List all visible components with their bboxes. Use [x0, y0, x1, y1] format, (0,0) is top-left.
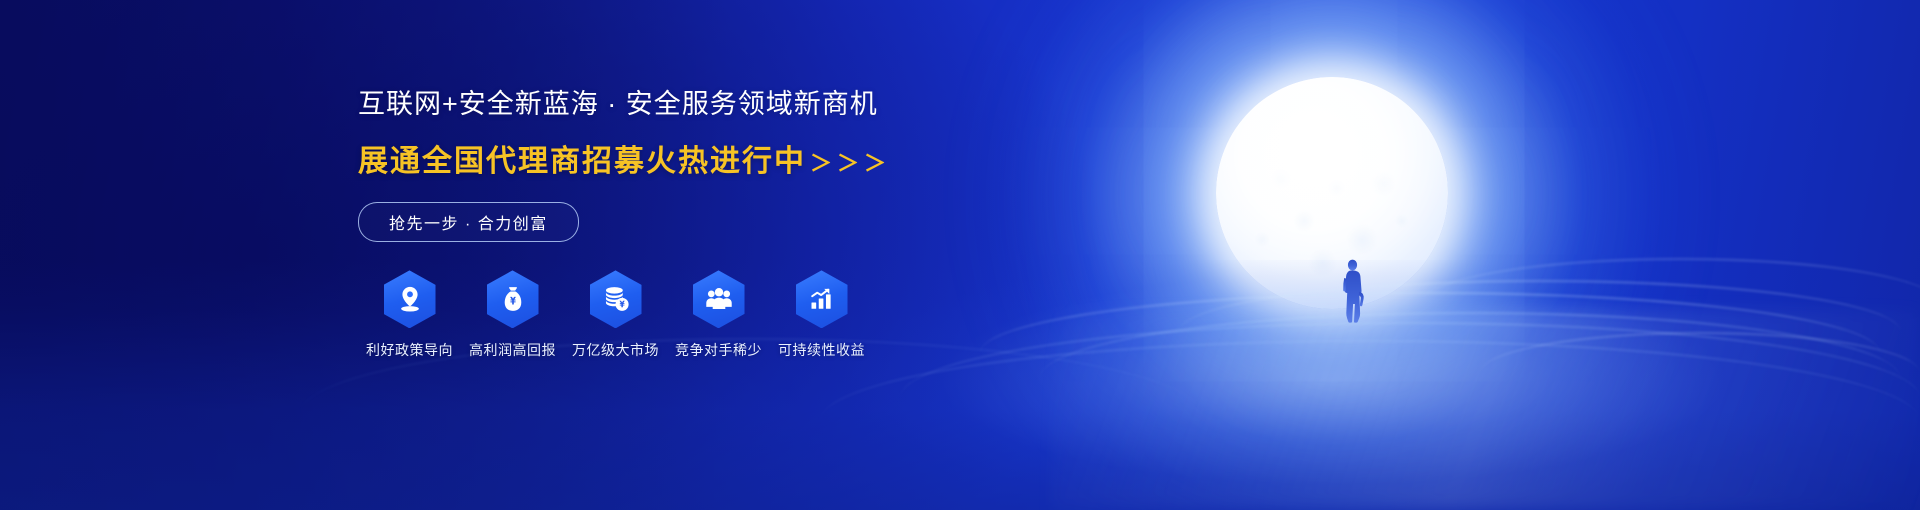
- banner-content: 互联网+安全新蓝海 · 安全服务领域新商机 展通全国代理商招募火热进行中 ＞＞＞…: [358, 88, 1178, 360]
- money-bag-icon: [487, 270, 539, 328]
- promo-banner: 互联网+安全新蓝海 · 安全服务领域新商机 展通全国代理商招募火热进行中 ＞＞＞…: [0, 0, 1920, 510]
- water-reflection: [1050, 310, 1920, 510]
- banner-subheadline: 展通全国代理商招募火热进行中: [358, 136, 806, 180]
- walking-person-silhouette-icon: [1338, 258, 1368, 324]
- feature-item-revenue[interactable]: 可持续性收益: [770, 270, 873, 360]
- feature-item-profit[interactable]: 高利润高回报: [461, 270, 564, 360]
- cta-button[interactable]: 抢先一步 · 合力创富: [358, 202, 579, 242]
- bar-chart-icon: [796, 270, 848, 328]
- banner-headline: 互联网+安全新蓝海 · 安全服务领域新商机: [358, 88, 1178, 120]
- feature-list: 利好政策导向 高利润高回报: [358, 270, 1178, 360]
- feature-label: 可持续性收益: [778, 340, 865, 360]
- feature-label: 竞争对手稀少: [675, 340, 762, 360]
- people-group-icon: [693, 270, 745, 328]
- feature-label: 利好政策导向: [366, 340, 453, 360]
- feature-label: 高利润高回报: [469, 340, 556, 360]
- location-pin-icon: [384, 270, 436, 328]
- feature-item-policy[interactable]: 利好政策导向: [358, 270, 461, 360]
- coin-stack-icon: [590, 270, 642, 328]
- feature-item-market[interactable]: 万亿级大市场: [564, 270, 667, 360]
- feature-label: 万亿级大市场: [572, 340, 659, 360]
- banner-subheadline-row: 展通全国代理商招募火热进行中 ＞＞＞: [358, 136, 1178, 180]
- chevron-right-arrows-icon: ＞＞＞: [810, 146, 891, 178]
- feature-item-competition[interactable]: 竞争对手稀少: [667, 270, 770, 360]
